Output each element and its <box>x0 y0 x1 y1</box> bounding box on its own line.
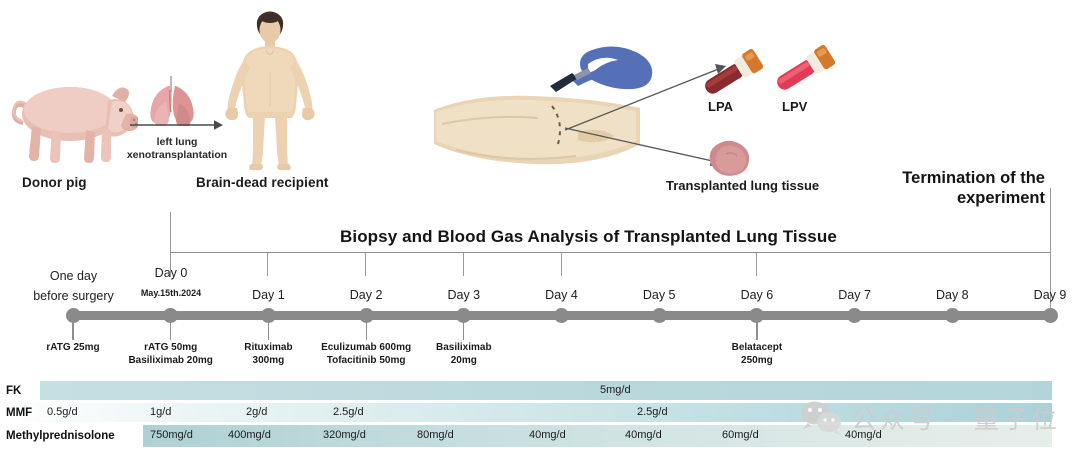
drug-label-7: Belatacept250mg <box>687 342 827 367</box>
brain-dead-recipient-illustration <box>222 8 318 174</box>
day-label-day-8: Day 8 <box>907 288 997 302</box>
bracket-riser-day0 <box>170 212 171 253</box>
regimen-cell-mmf-3: 2.5g/d <box>333 406 364 418</box>
lung-tissue-icon <box>708 138 752 178</box>
methylprednisolone-bar <box>143 425 1052 447</box>
regimen-cell-methylprednisolone-0: 750mg/d <box>150 429 193 441</box>
regimen-cell-methylprednisolone-4: 40mg/d <box>529 429 566 441</box>
regimen-cell-methylprednisolone-1: 400mg/d <box>228 429 271 441</box>
timeline-dot-8[interactable] <box>847 308 862 323</box>
regimen-cell-methylprednisolone-2: 320mg/d <box>323 429 366 441</box>
donor-pig-label: Donor pig <box>22 175 87 190</box>
timeline-dot-10[interactable] <box>1043 308 1058 323</box>
day-label-day-4: Day 4 <box>517 288 607 302</box>
day-label-day-7: Day 7 <box>810 288 900 302</box>
lpa-blood-vial-icon <box>700 46 766 102</box>
regimen-cell-methylprednisolone-6: 60mg/d <box>722 429 759 441</box>
bracket-tick-6 <box>756 252 757 276</box>
day-label-day-9: Day 9 <box>1005 288 1080 302</box>
regimen-cell-methylprednisolone-3: 80mg/d <box>417 429 454 441</box>
timeline-dot-6[interactable] <box>652 308 667 323</box>
regimen-cell-methylprednisolone-5: 40mg/d <box>625 429 662 441</box>
transplant-arrow-icon <box>130 118 225 132</box>
timeline-dot-9[interactable] <box>945 308 960 323</box>
drug-stem-3 <box>366 320 367 340</box>
regimen-cell-mmf-4: 2.5g/d <box>637 406 668 418</box>
drug-stem-7 <box>756 320 757 340</box>
bracket-tick-3 <box>463 252 464 276</box>
regimen-cell-mmf-2: 2g/d <box>246 406 267 418</box>
mmf-bar <box>20 403 1052 422</box>
day-label-day-1: Day 1 <box>223 288 313 302</box>
regimen-cell-methylprednisolone-7: 40mg/d <box>845 429 882 441</box>
fk-bar <box>40 381 1052 400</box>
drug-line: 20mg <box>394 355 534 368</box>
bracket-tick-4 <box>561 252 562 276</box>
biopsy-bracket-line <box>170 252 1050 253</box>
pre-surgery-line1: One day <box>16 266 131 286</box>
row-label-fk: FK <box>6 385 21 397</box>
day-label-day-2: Day 2 <box>321 288 411 302</box>
day-label-day-6: Day 6 <box>712 288 802 302</box>
recipient-label: Brain-dead recipient <box>196 175 329 190</box>
biopsy-analysis-title: Biopsy and Blood Gas Analysis of Transpl… <box>340 227 837 247</box>
lpv-label: LPV <box>782 99 807 114</box>
lpa-label: LPA <box>708 99 733 114</box>
termination-line1: Termination of the <box>890 168 1045 188</box>
drug-line: 250mg <box>687 355 827 368</box>
regimen-cell-mmf-0: 0.5g/d <box>47 406 78 418</box>
drug-stem-4 <box>463 320 464 340</box>
figure-canvas: Donor pig left lung xenotransplantation <box>0 0 1080 468</box>
day0-date: May.15th.2024 <box>120 288 222 298</box>
drug-label-4: Basiliximab20mg <box>394 342 534 367</box>
pre-surgery-label: One day before surgery <box>16 266 131 306</box>
regimen-cell-fk-0: 5mg/d <box>600 384 631 396</box>
drug-stem-0 <box>72 320 73 340</box>
day0-label: Day 0 <box>126 266 216 280</box>
day-label-day-5: Day 5 <box>614 288 704 302</box>
bracket-tick-2 <box>365 252 366 276</box>
pre-surgery-line2: before surgery <box>16 286 131 306</box>
drug-line: Basiliximab <box>394 342 534 355</box>
row-label-mmf: MMF <box>6 407 32 419</box>
drug-stem-1 <box>170 320 171 340</box>
transplanted-lung-tissue-label: Transplanted lung tissue <box>666 178 819 193</box>
lpv-blood-vial-icon <box>772 42 838 98</box>
day-label-day-3: Day 3 <box>419 288 509 302</box>
drug-line: Belatacept <box>687 342 827 355</box>
termination-note: Termination of the experiment <box>890 168 1045 208</box>
row-label-methylprednisolone: Methylprednisolone <box>6 430 115 442</box>
termination-line2: experiment <box>890 188 1045 208</box>
drug-stem-2 <box>268 320 269 340</box>
bracket-tick-1 <box>267 252 268 276</box>
regimen-cell-mmf-1: 1g/d <box>150 406 171 418</box>
timeline-dot-5[interactable] <box>554 308 569 323</box>
